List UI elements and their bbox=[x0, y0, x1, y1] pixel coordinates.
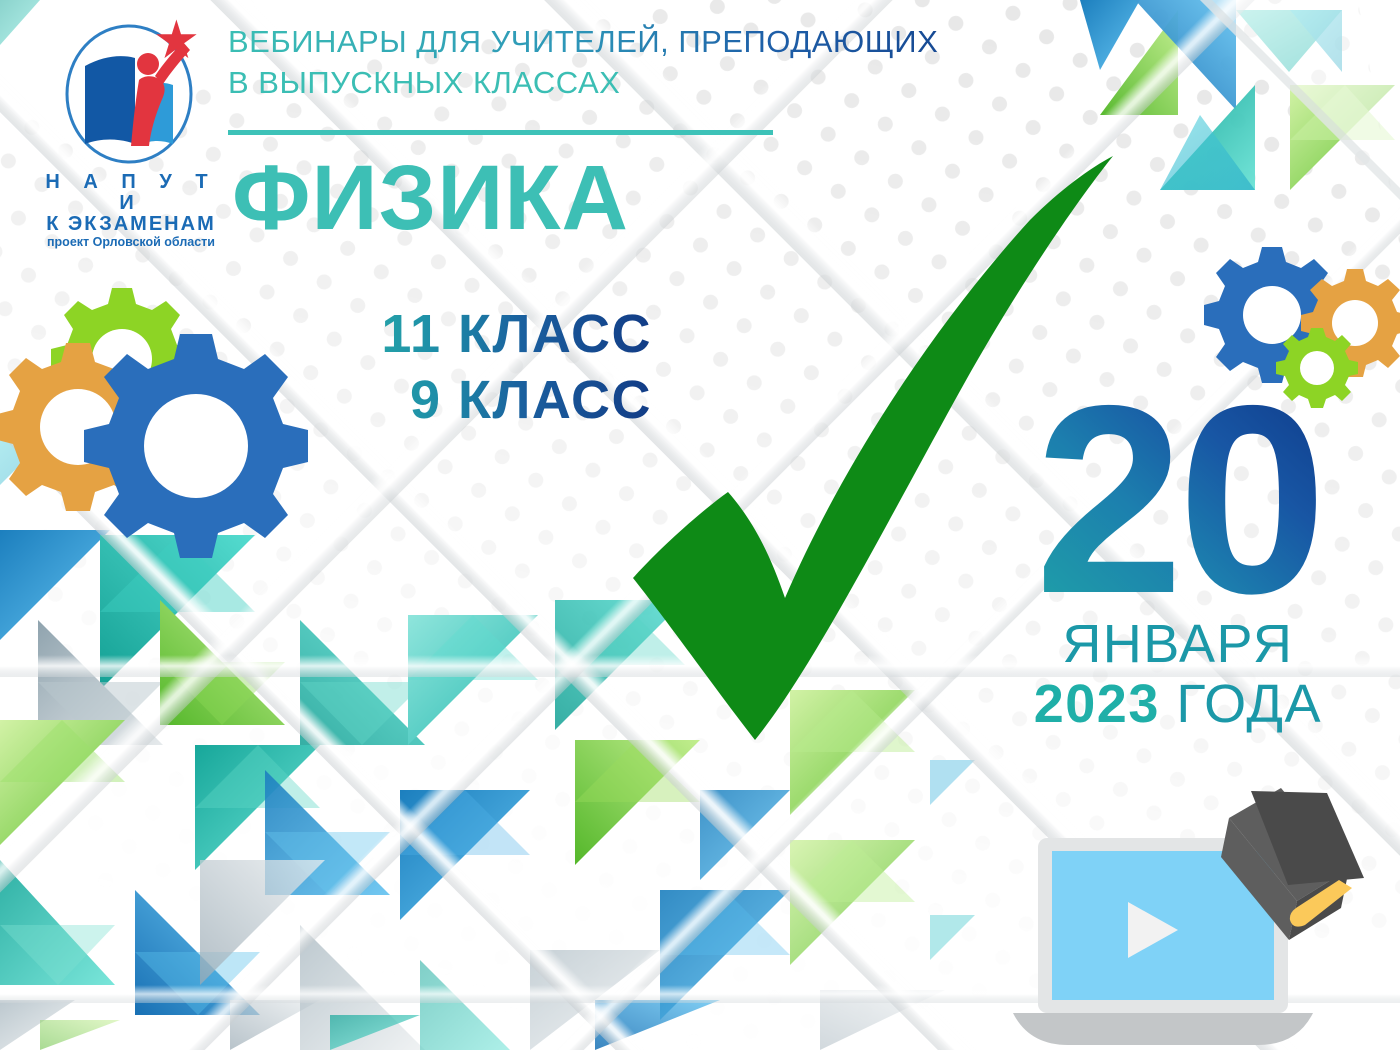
date-day: 20 bbox=[1034, 390, 1322, 610]
subject-title: ФИЗИКА bbox=[232, 152, 629, 244]
header-line-2: В ВЫПУСКНЫХ КЛАССАХ bbox=[228, 63, 1048, 104]
brand-logo: Н А П У Т И К ЭКЗАМЕНАМ проект Орловской… bbox=[36, 12, 226, 249]
class-list: 11 КЛАСС 9 КЛАСС bbox=[322, 302, 652, 434]
event-date-block: 20 ЯНВАРЯ 2023 ГОДА bbox=[1034, 390, 1322, 735]
class-line-9: 9 КЛАСС bbox=[322, 368, 652, 434]
logo-emblem-icon bbox=[51, 12, 211, 172]
date-year-number: 2023 bbox=[1034, 674, 1160, 734]
poster-canvas: Н А П У Т И К ЭКЗАМЕНАМ проект Орловской… bbox=[0, 0, 1400, 1050]
header-line-1: ВЕБИНАРЫ ДЛЯ УЧИТЕЛЕЙ, ПРЕПОДАЮЩИХ bbox=[228, 22, 1048, 63]
header-text-block: ВЕБИНАРЫ ДЛЯ УЧИТЕЛЕЙ, ПРЕПОДАЮЩИХ В ВЫП… bbox=[228, 22, 1048, 104]
logo-subtitle: проект Орловской области bbox=[36, 235, 226, 249]
date-year-suffix: ГОДА bbox=[1176, 674, 1322, 734]
logo-line-2: К ЭКЗАМЕНАМ bbox=[36, 214, 226, 235]
class-line-11: 11 КЛАСС bbox=[322, 302, 652, 368]
logo-line-1: Н А П У Т И bbox=[36, 172, 226, 214]
header-divider-rule bbox=[228, 130, 773, 135]
date-year-line: 2023 ГОДА bbox=[1034, 674, 1322, 734]
date-month: ЯНВАРЯ bbox=[1034, 614, 1322, 674]
